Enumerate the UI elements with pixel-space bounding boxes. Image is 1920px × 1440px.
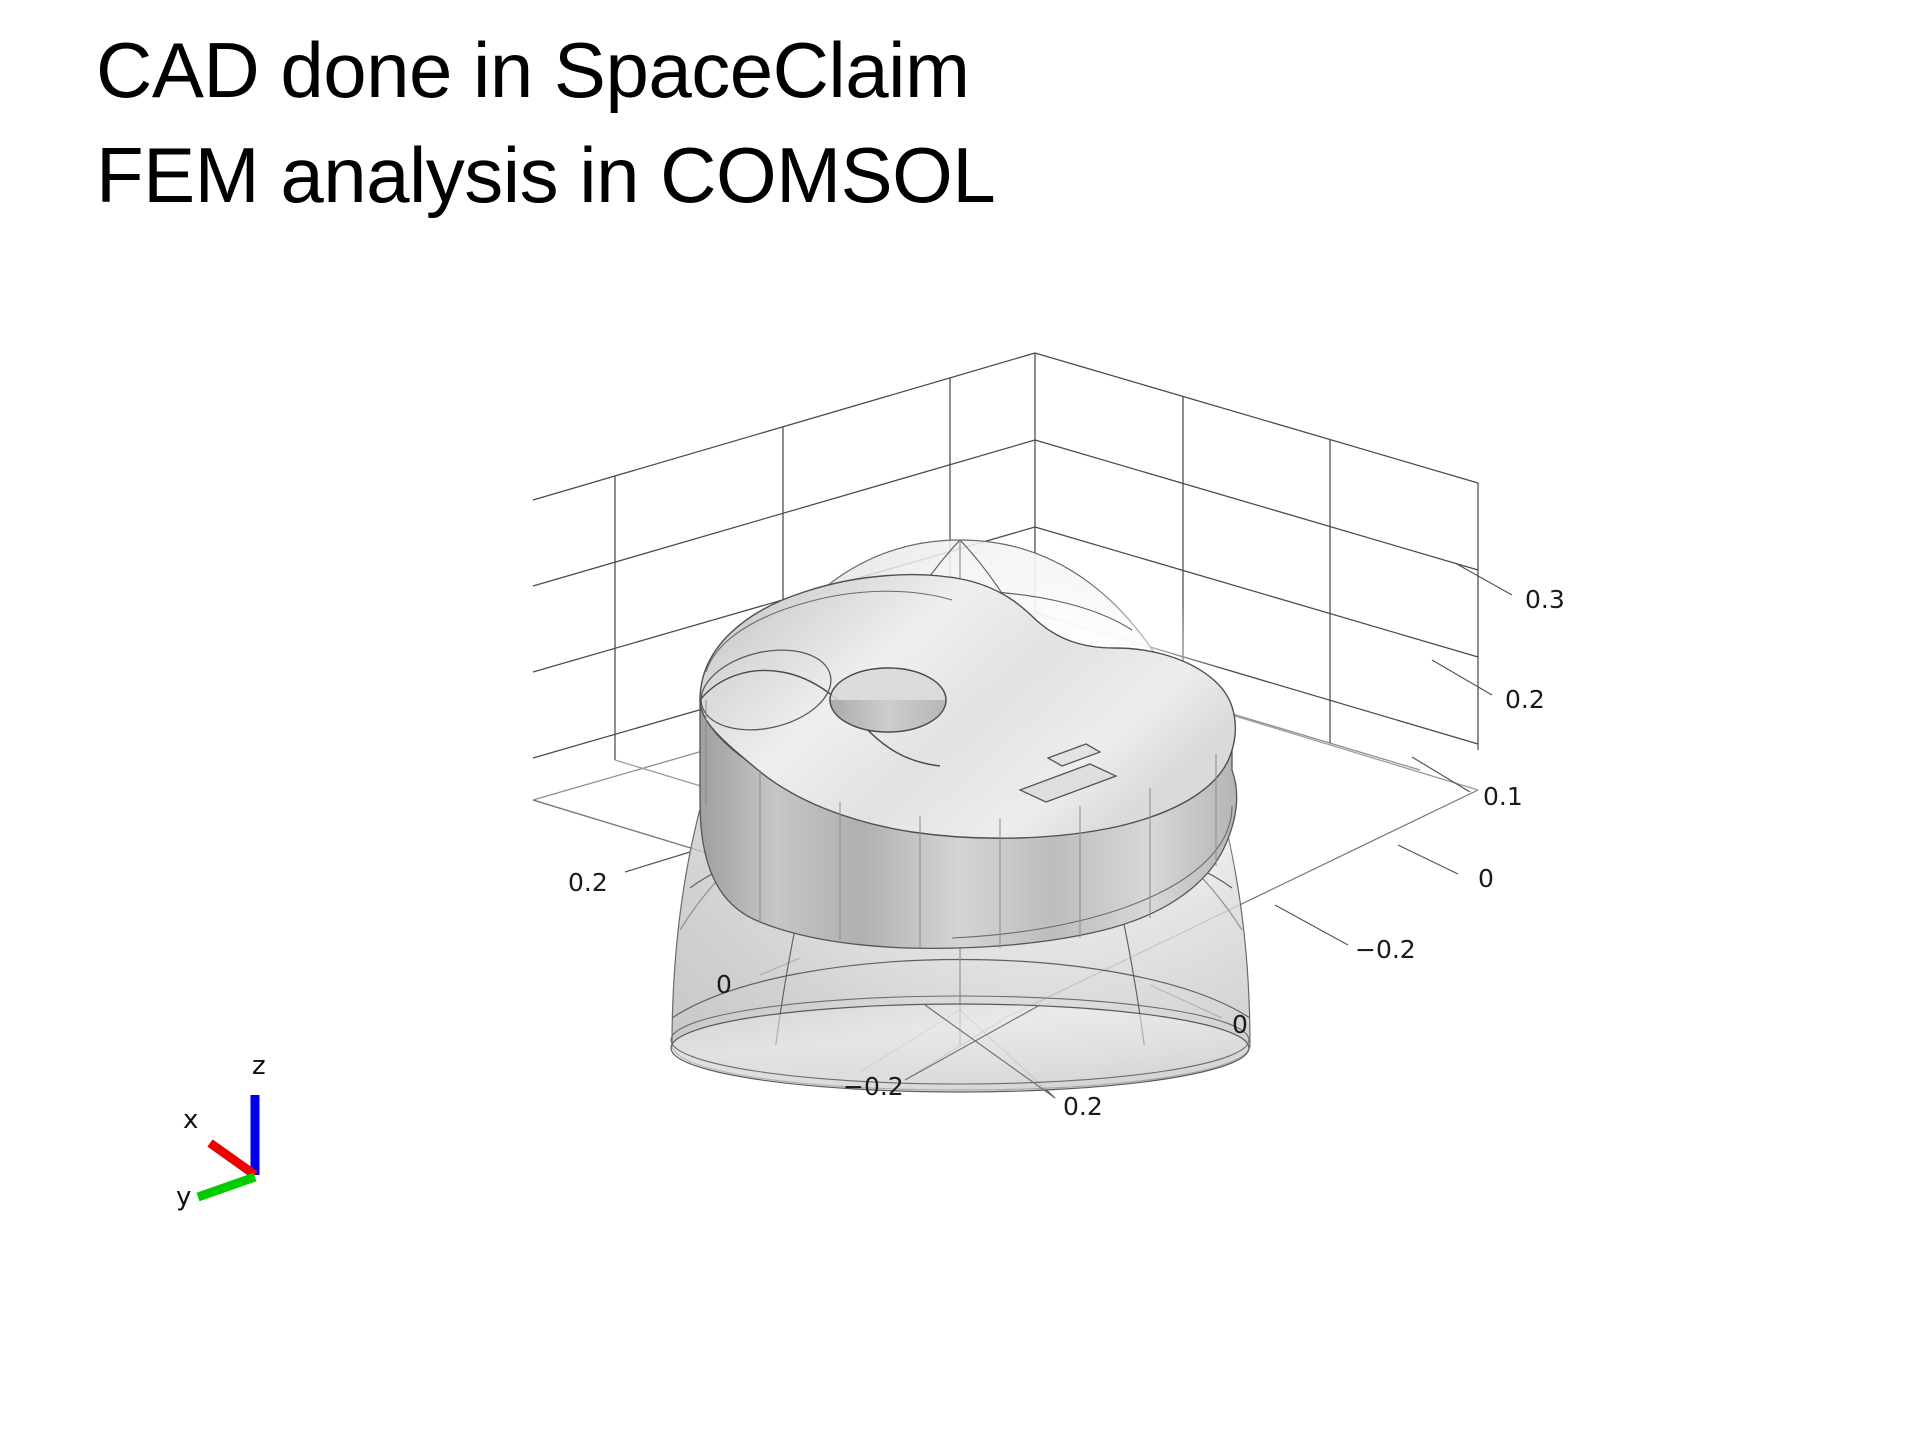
- tick-label-x-0: 0: [716, 970, 732, 999]
- axis-triad-y-arrow: [198, 1177, 255, 1197]
- comsol-3d-plot[interactable]: 0.3 0.2 0.1 0 −0.2 0 0.2 0 −0.2 0.2 z x …: [0, 0, 1920, 1440]
- guitar-sound-hole: [830, 668, 946, 732]
- tick-label-z-0: 0: [1478, 864, 1494, 893]
- hemisphere-base-rim: [671, 1004, 1249, 1092]
- tick-label-z-01: 0.1: [1483, 782, 1523, 811]
- axis-triad-label-y: y: [176, 1182, 191, 1212]
- tick-label-y-neg02: −0.2: [843, 1072, 904, 1101]
- axis-triad-x-arrow: [210, 1143, 255, 1175]
- axis-triad-label-x: x: [183, 1105, 198, 1135]
- tick-label-y-02: 0.2: [1063, 1092, 1103, 1121]
- tick-label-x-02: 0.2: [568, 868, 608, 897]
- axis-triad-label-z: z: [252, 1051, 266, 1081]
- tick-label-z-02: 0.2: [1505, 685, 1545, 714]
- tick-label-depth-0: 0: [1232, 1010, 1248, 1039]
- tick-label-z-03: 0.3: [1525, 585, 1565, 614]
- geometry-canvas: [0, 0, 1920, 1440]
- axis-triad[interactable]: z x y: [190, 1055, 320, 1205]
- tick-label-depth-neg02: −0.2: [1355, 935, 1416, 964]
